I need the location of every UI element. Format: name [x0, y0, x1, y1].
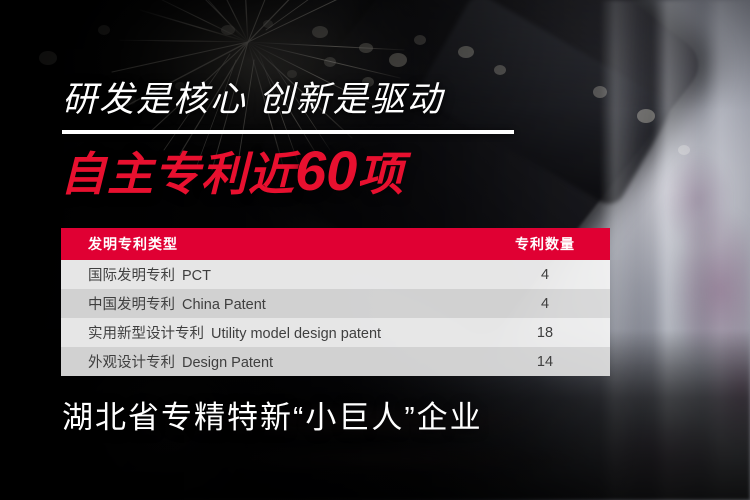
cell-patent-type-en: Utility model design patent	[211, 326, 381, 342]
infographic-banner: 研发是核心 创新是驱动 自主专利近60项 发明专利类型 专利数量 国际发明专利P…	[0, 0, 750, 500]
table-row: 实用新型设计专利Utility model design patent 18	[61, 318, 610, 347]
headline-secondary-number: 60	[295, 139, 357, 202]
patent-table: 发明专利类型 专利数量 国际发明专利PCT 4 中国发明专利China Pate…	[61, 228, 610, 376]
cell-patent-type-en: Design Patent	[182, 355, 273, 371]
headline-secondary-suffix: 项	[357, 148, 404, 200]
table-row: 中国发明专利China Patent 4	[61, 289, 610, 318]
cell-patent-type: 外观设计专利Design Patent	[61, 351, 480, 372]
cell-patent-type-cn: 实用新型设计专利	[88, 326, 204, 342]
cell-patent-type: 国际发明专利PCT	[61, 264, 480, 285]
headline-secondary: 自主专利近60项	[60, 143, 404, 202]
table-header-row: 发明专利类型 专利数量	[61, 228, 610, 260]
headline-secondary-prefix: 自主专利近	[60, 148, 295, 200]
cell-patent-count: 4	[480, 296, 610, 312]
table-row: 国际发明专利PCT 4	[61, 260, 610, 289]
headline-primary: 研发是核心 创新是驱动	[62, 79, 444, 121]
column-header-patent-count: 专利数量	[480, 234, 610, 254]
cell-patent-type-cn: 中国发明专利	[88, 297, 175, 313]
footer-caption: 湖北省专精特新“小巨人”企业	[62, 398, 483, 438]
cell-patent-count: 4	[480, 267, 610, 283]
column-header-patent-type: 发明专利类型	[61, 234, 480, 254]
cell-patent-count: 18	[480, 325, 610, 341]
headline-divider	[62, 130, 514, 134]
cell-patent-type-cn: 国际发明专利	[88, 268, 175, 284]
cell-patent-type-cn: 外观设计专利	[88, 355, 175, 371]
cell-patent-type-en: PCT	[182, 268, 211, 284]
cell-patent-type: 中国发明专利China Patent	[61, 293, 480, 314]
table-row: 外观设计专利Design Patent 14	[61, 347, 610, 376]
cell-patent-count: 14	[480, 354, 610, 370]
cell-patent-type-en: China Patent	[182, 297, 266, 313]
cell-patent-type: 实用新型设计专利Utility model design patent	[61, 322, 480, 343]
